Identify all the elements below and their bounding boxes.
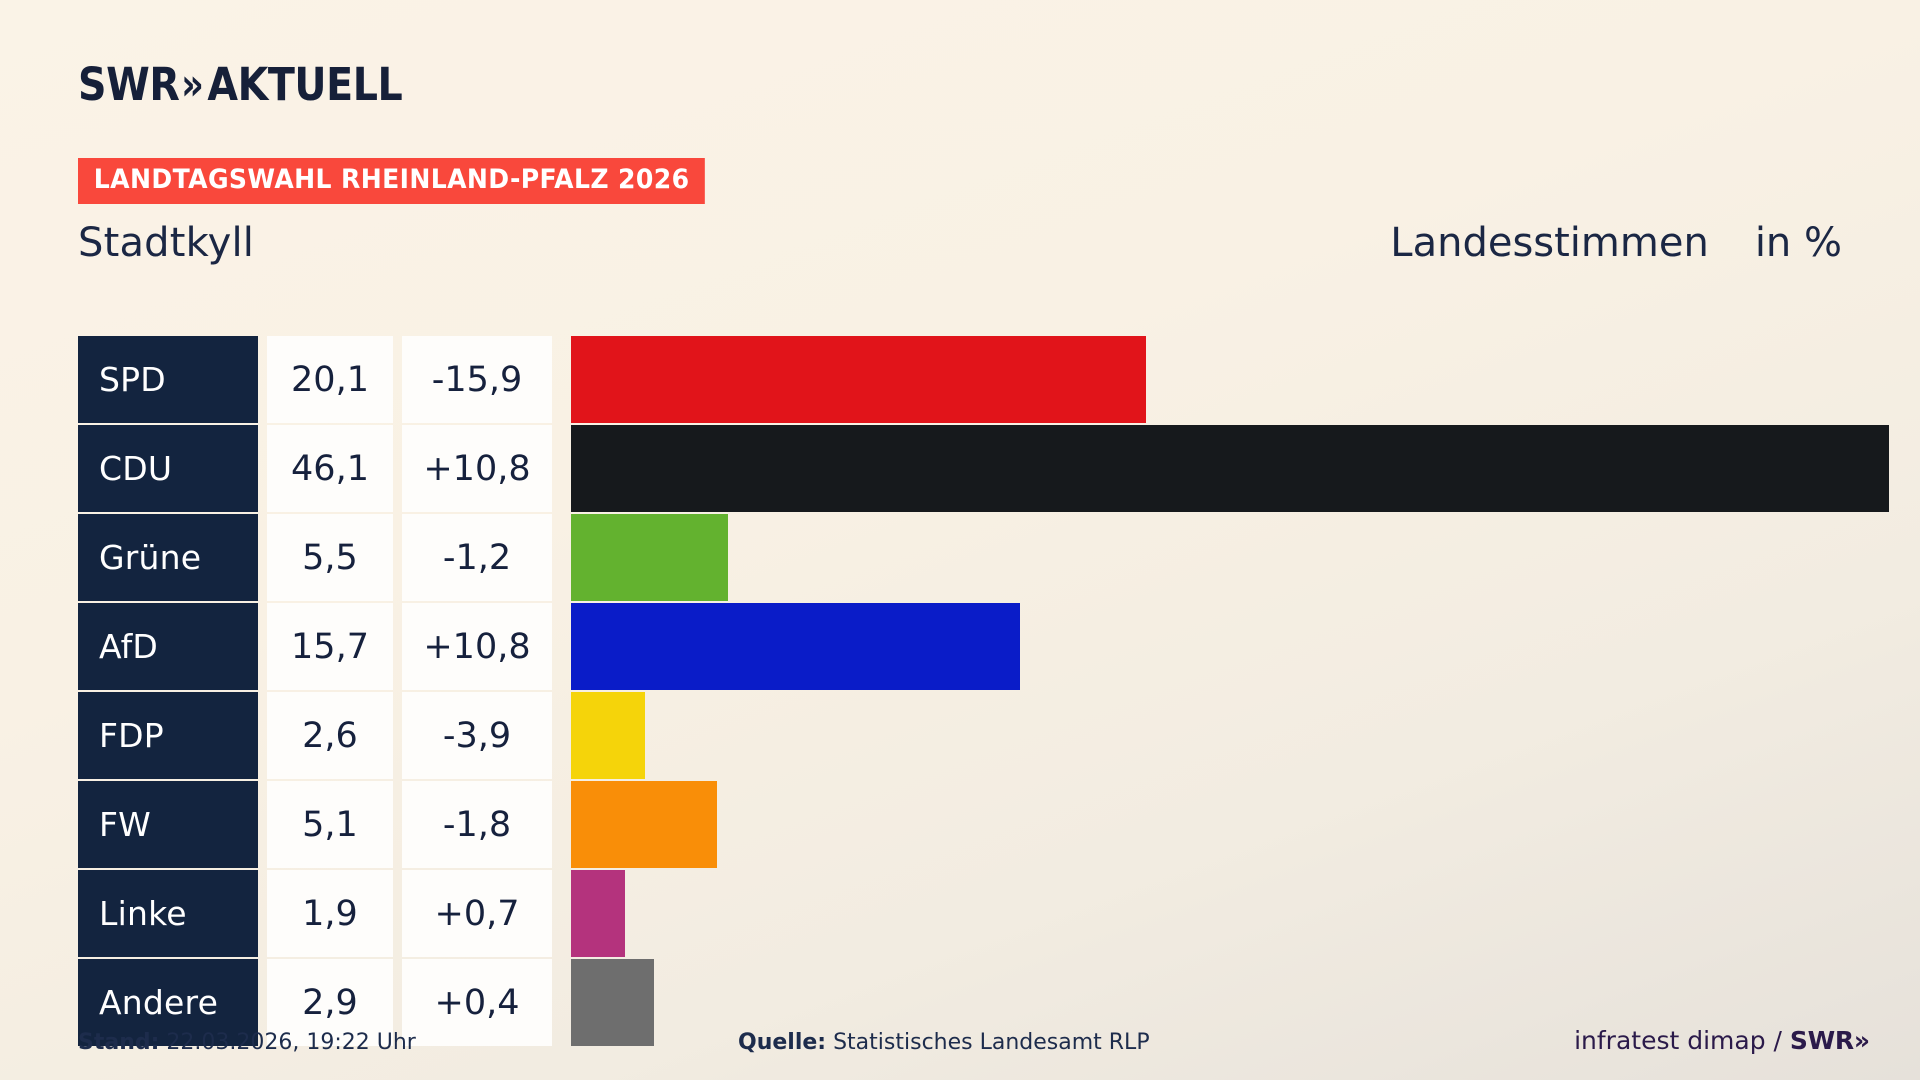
party-label: FW: [78, 781, 258, 868]
party-label: Linke: [78, 870, 258, 957]
chart-row: Linke1,9+0,7: [78, 870, 1920, 957]
footer: Stand: 22.03.2026, 19:22 Uhr Quelle: Sta…: [78, 1026, 1864, 1055]
result-bar: [571, 870, 625, 957]
stand-label: Stand:: [78, 1030, 159, 1055]
party-label: AfD: [78, 603, 258, 690]
party-vote-share: 46,1: [267, 425, 393, 512]
quelle-label: Quelle:: [738, 1030, 826, 1055]
chart-row: Grüne5,5-1,2: [78, 514, 1920, 601]
unit-label: in %: [1755, 220, 1842, 266]
party-vote-share: 15,7: [267, 603, 393, 690]
bar-track: [571, 781, 1920, 868]
chart-row: FDP2,6-3,9: [78, 692, 1920, 779]
chart-row: CDU46,1+10,8: [78, 425, 1920, 512]
double-chevron-icon: »: [181, 62, 197, 107]
chart-row: AfD15,7+10,8: [78, 603, 1920, 690]
credit-brand: SWR: [1790, 1026, 1854, 1055]
bar-track: [571, 514, 1920, 601]
party-vote-change: -1,2: [402, 514, 552, 601]
results-bar-chart: SPD20,1-15,9CDU46,1+10,8Grüne5,5-1,2AfD1…: [78, 336, 1920, 1048]
credit-double-chevron-icon: »: [1854, 1026, 1864, 1055]
party-label: SPD: [78, 336, 258, 423]
party-label: CDU: [78, 425, 258, 512]
party-vote-change: -15,9: [402, 336, 552, 423]
result-bar: [571, 692, 645, 779]
election-banner: LANDTAGSWAHL RHEINLAND-PFALZ 2026: [78, 158, 705, 204]
bar-track: [571, 336, 1920, 423]
party-vote-change: +10,8: [402, 425, 552, 512]
source-info: Quelle: Statistisches Landesamt RLP: [738, 1030, 1574, 1055]
result-bar: [571, 781, 717, 868]
infographic-canvas: SWR»AKTUELL LANDTAGSWAHL RHEINLAND-PFALZ…: [0, 0, 1920, 1080]
party-vote-share: 20,1: [267, 336, 393, 423]
party-vote-share: 5,5: [267, 514, 393, 601]
party-vote-change: +10,8: [402, 603, 552, 690]
vote-type-label: Landesstimmen: [1390, 220, 1709, 266]
credit-agency: infratest dimap /: [1574, 1026, 1790, 1055]
chart-row: FW5,1-1,8: [78, 781, 1920, 868]
credit-info: infratest dimap / SWR»: [1574, 1026, 1864, 1055]
bar-track: [571, 870, 1920, 957]
logo-brand-text: SWR: [78, 58, 179, 111]
swr-aktuell-logo: SWR»AKTUELL: [78, 58, 402, 111]
result-bar: [571, 336, 1146, 423]
result-bar: [571, 514, 728, 601]
result-bar: [571, 603, 1020, 690]
party-vote-share: 5,1: [267, 781, 393, 868]
page-title: Stadtkyll: [78, 220, 254, 266]
stand-value: 22.03.2026, 19:22 Uhr: [166, 1030, 415, 1055]
party-vote-share: 1,9: [267, 870, 393, 957]
party-vote-change: -1,8: [402, 781, 552, 868]
party-vote-change: +0,7: [402, 870, 552, 957]
party-vote-share: 2,6: [267, 692, 393, 779]
result-bar: [571, 425, 1889, 512]
quelle-value: Statistisches Landesamt RLP: [833, 1030, 1150, 1055]
party-label: FDP: [78, 692, 258, 779]
chart-row: SPD20,1-15,9: [78, 336, 1920, 423]
logo-suffix-text: AKTUELL: [207, 58, 402, 111]
bar-track: [571, 425, 1920, 512]
party-label: Grüne: [78, 514, 258, 601]
bar-track: [571, 603, 1920, 690]
stand-info: Stand: 22.03.2026, 19:22 Uhr: [78, 1030, 738, 1055]
bar-track: [571, 692, 1920, 779]
party-vote-change: -3,9: [402, 692, 552, 779]
vote-type-labels: Landesstimmen in %: [1390, 220, 1842, 266]
subtitle-row: Stadtkyll Landesstimmen in %: [78, 220, 1842, 280]
